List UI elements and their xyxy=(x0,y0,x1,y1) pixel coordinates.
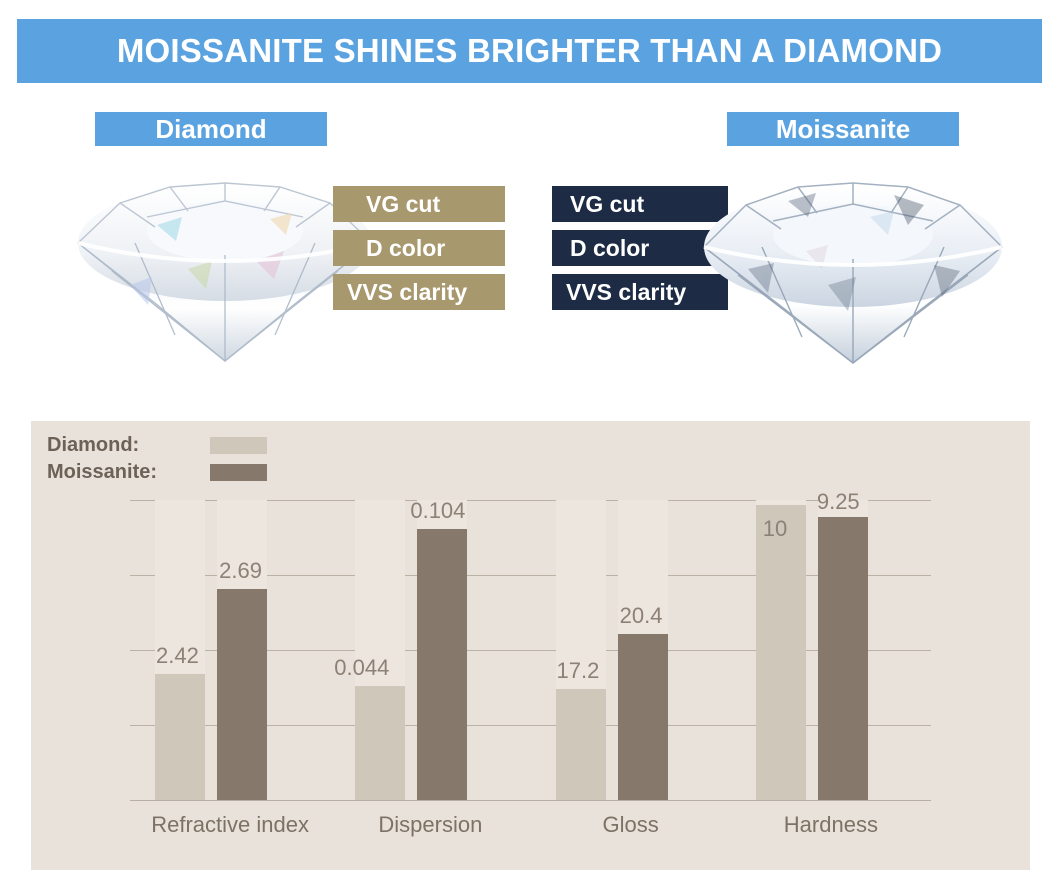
bar-diamond-gloss[interactable] xyxy=(556,689,606,800)
value-label-moissanite-dispersion: 0.104 xyxy=(410,498,465,524)
value-label-diamond-refractive-index: 2.42 xyxy=(156,643,199,669)
value-label-moissanite-hardness: 9.25 xyxy=(817,489,860,515)
chart-legend: Diamond: Moissanite: xyxy=(47,432,267,486)
badge-moissanite: Moissanite xyxy=(727,112,959,146)
badge-diamond-label: Diamond xyxy=(155,114,266,145)
bar-group-hardness: 10 9.25 xyxy=(731,500,931,801)
comparison-chart-panel: Diamond: Moissanite: 2.42 xyxy=(31,421,1030,870)
legend-label-diamond: Diamond: xyxy=(47,434,210,457)
bar-group-dispersion: 0.044 0.104 xyxy=(330,500,530,801)
diamond-spec-color-label: D color xyxy=(366,235,445,262)
legend-item-moissanite: Moissanite: xyxy=(47,459,267,486)
legend-swatch-moissanite xyxy=(210,464,267,481)
value-label-diamond-dispersion: 0.044 xyxy=(334,655,389,681)
value-label-moissanite-gloss: 20.4 xyxy=(620,603,663,629)
diamond-spec-color: D color xyxy=(333,230,505,266)
moissanite-gem-icon xyxy=(688,165,1018,365)
diamond-spec-cut: VG cut xyxy=(333,186,505,222)
bar-group-refractive-index: 2.42 2.69 xyxy=(130,500,330,801)
value-label-diamond-gloss: 17.2 xyxy=(557,658,600,684)
infographic-root: MOISSANITE SHINES BRIGHTER THAN A DIAMON… xyxy=(0,0,1059,896)
bar-group-gloss: 17.2 20.4 xyxy=(531,500,731,801)
diamond-spec-list: VG cut D color VVS clarity xyxy=(333,186,505,318)
badge-moissanite-label: Moissanite xyxy=(776,114,910,145)
bar-chart-plot-area: 2.42 2.69 0.044 0.104 xyxy=(130,500,931,801)
moissanite-spec-color-label: D color xyxy=(570,235,649,262)
gem-comparison-section: Diamond Moissanite xyxy=(0,92,1059,397)
moissanite-spec-clarity-label: VVS clarity xyxy=(566,279,686,306)
bar-moissanite-gloss[interactable] xyxy=(618,634,668,800)
bar-diamond-refractive-index[interactable] xyxy=(155,674,205,800)
value-label-diamond-hardness: 10 xyxy=(763,516,787,542)
moissanite-spec-cut-label: VG cut xyxy=(570,191,644,218)
bar-moissanite-dispersion[interactable] xyxy=(417,529,467,800)
x-axis-label-gloss: Gloss xyxy=(531,812,731,852)
x-axis-label-hardness: Hardness xyxy=(731,812,931,852)
badge-diamond: Diamond xyxy=(95,112,327,146)
bar-moissanite-refractive-index[interactable] xyxy=(217,589,267,800)
x-axis-label-refractive-index: Refractive index xyxy=(130,812,330,852)
header-banner: MOISSANITE SHINES BRIGHTER THAN A DIAMON… xyxy=(17,19,1042,83)
bar-groups: 2.42 2.69 0.044 0.104 xyxy=(130,500,931,801)
bar-diamond-hardness[interactable] xyxy=(756,505,806,800)
x-axis-label-dispersion: Dispersion xyxy=(330,812,530,852)
legend-label-moissanite: Moissanite: xyxy=(47,461,210,484)
legend-item-diamond: Diamond: xyxy=(47,432,267,459)
page-title: MOISSANITE SHINES BRIGHTER THAN A DIAMON… xyxy=(117,32,942,70)
value-label-moissanite-refractive-index: 2.69 xyxy=(219,558,262,584)
bar-moissanite-hardness[interactable] xyxy=(818,517,868,800)
x-axis-labels: Refractive index Dispersion Gloss Hardne… xyxy=(130,812,931,852)
diamond-spec-clarity: VVS clarity xyxy=(333,274,505,310)
diamond-spec-clarity-label: VVS clarity xyxy=(347,279,467,306)
legend-swatch-diamond xyxy=(210,437,267,454)
bar-diamond-dispersion[interactable] xyxy=(355,686,405,800)
diamond-spec-cut-label: VG cut xyxy=(366,191,440,218)
